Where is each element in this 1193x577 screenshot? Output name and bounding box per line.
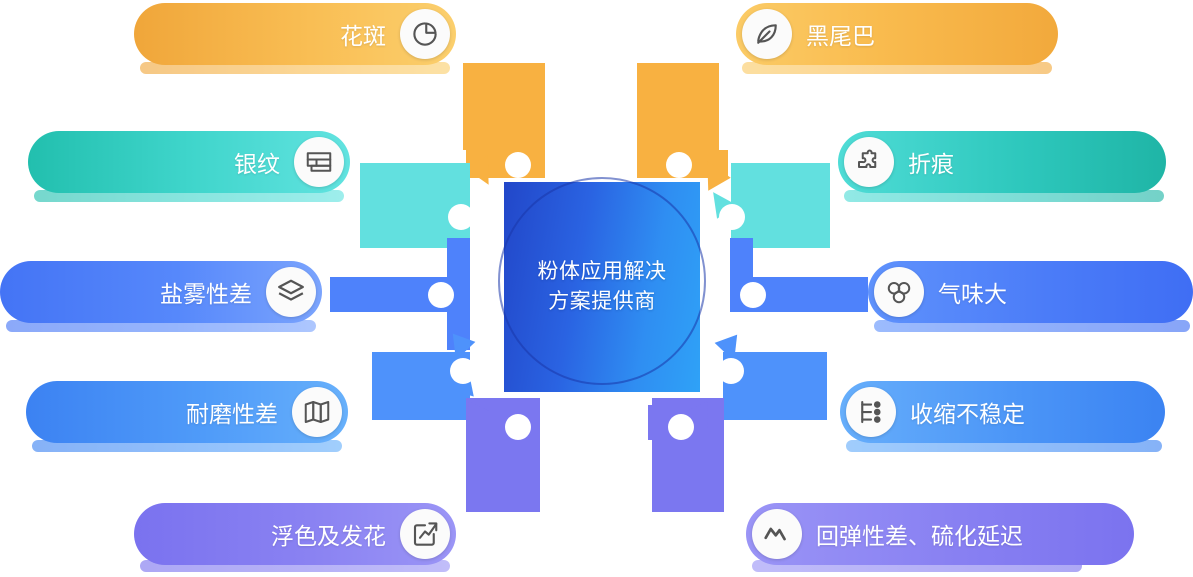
pill-naimo[interactable]: 耐磨性差 [26, 381, 348, 443]
pill-label-yinwen: 银纹 [234, 145, 280, 179]
activity-icon [752, 509, 802, 559]
pill-label-shousuo: 收缩不稳定 [910, 395, 1025, 429]
pill-label-yanwu: 盐雾性差 [160, 275, 252, 309]
joint-dot-yinwen [448, 204, 474, 230]
leaf-icon [742, 9, 792, 59]
connector-huaban [463, 63, 545, 191]
joint-dot-fuse [505, 414, 531, 440]
trending-up-icon [400, 509, 450, 559]
pill-fuse[interactable]: 浮色及发花 [134, 503, 456, 565]
recycle-icon [874, 267, 924, 317]
joint-dot-zhehen [719, 204, 745, 230]
joint-dot-naimo [450, 358, 476, 384]
joint-dot-yanwu [428, 282, 454, 308]
pill-label-huitan: 回弹性差、硫化延迟 [816, 517, 1023, 551]
pie-chart-icon [400, 9, 450, 59]
pill-yinwen[interactable]: 银纹 [28, 131, 350, 193]
pill-yanwu[interactable]: 盐雾性差 [0, 261, 322, 323]
joint-dot-heiweiba [666, 152, 692, 178]
pill-label-naimo: 耐磨性差 [186, 395, 278, 429]
connector-fuse [458, 398, 540, 512]
brick-wall-icon [294, 137, 344, 187]
pill-huitan[interactable]: 回弹性差、硫化延迟 [746, 503, 1134, 565]
puzzle-icon [844, 137, 894, 187]
center-label: 粉体应用解决 方案提供商 [504, 257, 700, 317]
pill-heiweiba[interactable]: 黑尾巴 [736, 3, 1058, 65]
pill-label-zhehen: 折痕 [908, 145, 954, 179]
sitemap-icon [846, 387, 896, 437]
pill-label-qiwei: 气味大 [938, 275, 1007, 309]
pill-label-fuse: 浮色及发花 [271, 517, 386, 551]
joint-dot-huaban [505, 152, 531, 178]
center-label-line2: 方案提供商 [504, 287, 700, 317]
pill-qiwei[interactable]: 气味大 [868, 261, 1193, 323]
joint-dot-qiwei [740, 282, 766, 308]
joint-dot-shousuo [718, 358, 744, 384]
center-node: 粉体应用解决 方案提供商 [504, 182, 700, 392]
pill-label-heiweiba: 黑尾巴 [806, 17, 875, 51]
map-icon [292, 387, 342, 437]
pill-huaban[interactable]: 花斑 [134, 3, 456, 65]
pill-zhehen[interactable]: 折痕 [838, 131, 1166, 193]
center-label-line1: 粉体应用解决 [504, 257, 700, 287]
pill-shousuo[interactable]: 收缩不稳定 [840, 381, 1165, 443]
infographic-diagram: 粉体应用解决 方案提供商 花斑 黑尾巴 银纹 [0, 0, 1193, 577]
pill-label-huaban: 花斑 [340, 17, 386, 51]
layers-icon [266, 267, 316, 317]
joint-dot-huitan [668, 414, 694, 440]
